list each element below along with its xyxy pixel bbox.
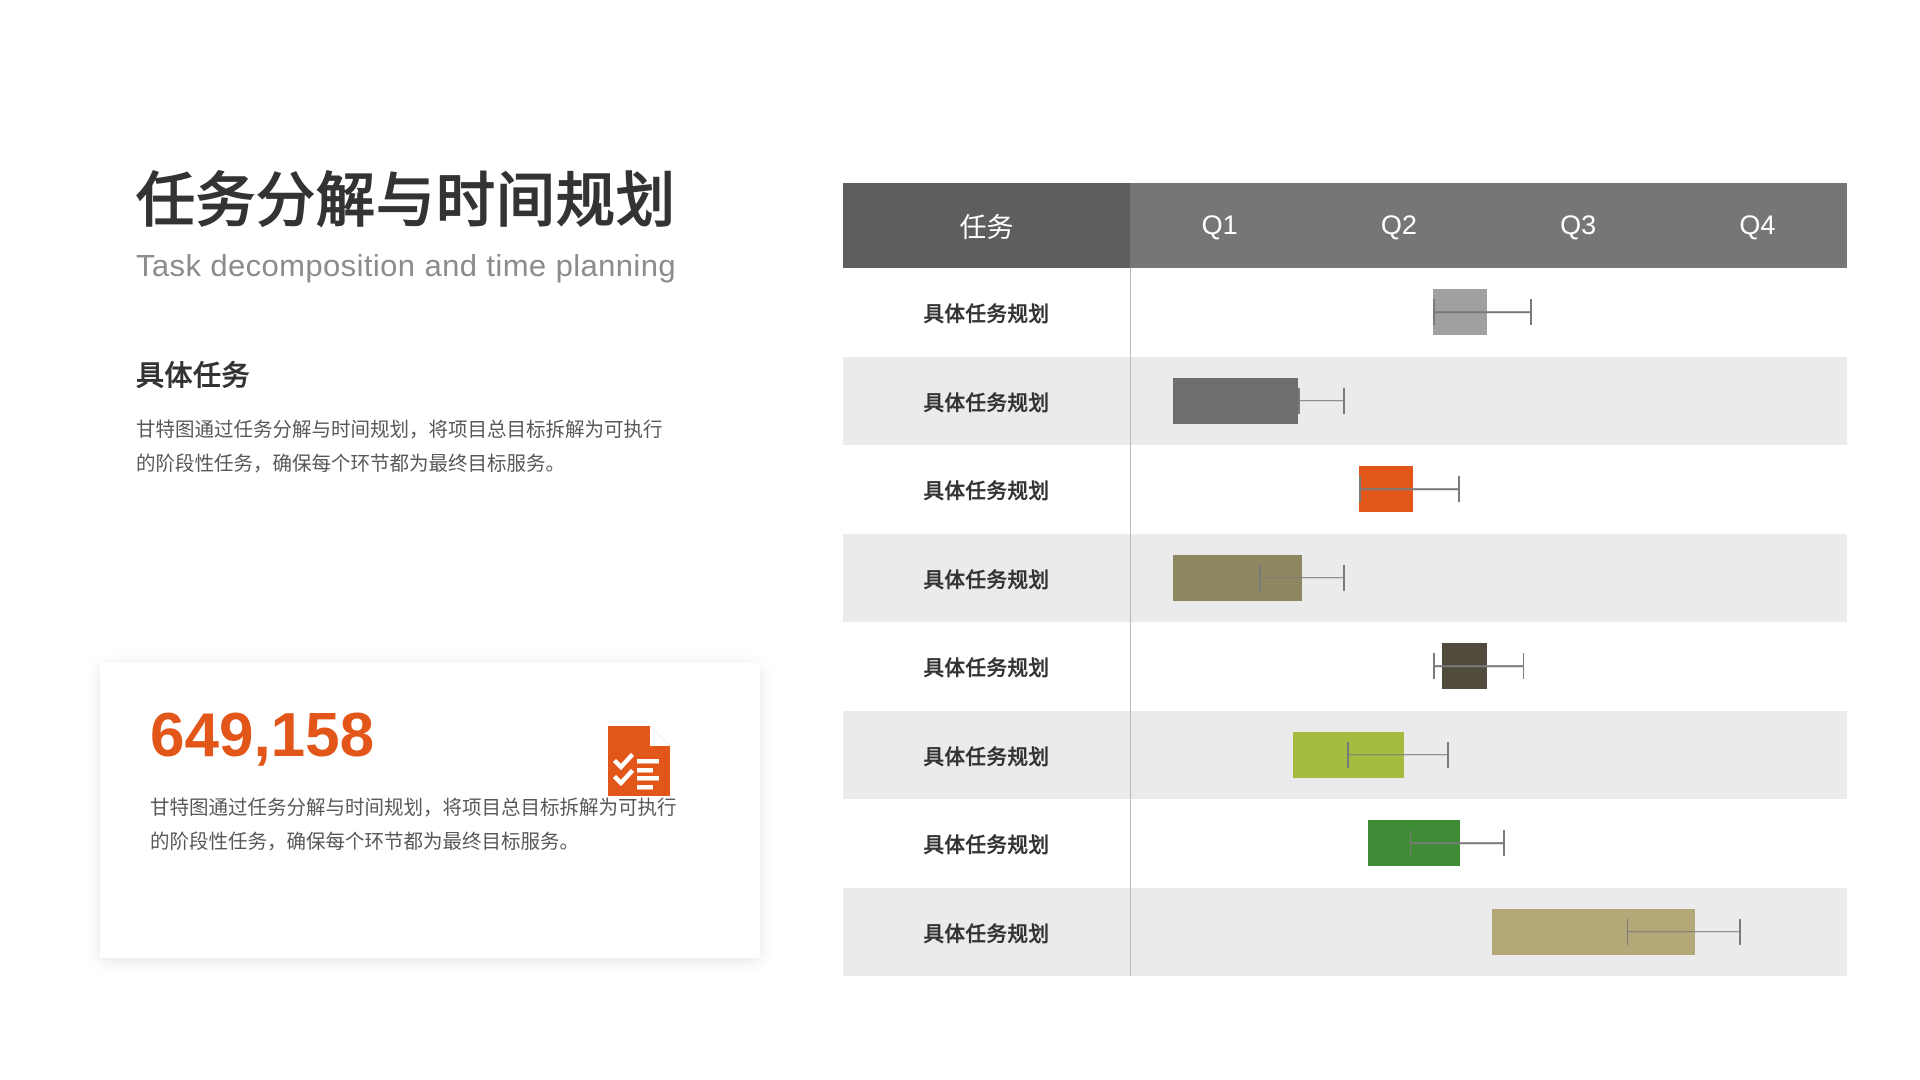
error-bar-cap-low (1359, 476, 1361, 502)
gantt-header-row: 任务 Q1 Q2 Q3 Q4 (843, 183, 1847, 268)
gantt-chart: 任务 Q1 Q2 Q3 Q4 具体任务规划具体任务规划具体任务规划具体任务规划具… (843, 183, 1847, 976)
stat-card-body-text: 甘特图通过任务分解与时间规划，将项目总目标拆解为可执行的阶段性任务，确保每个环节… (150, 792, 695, 859)
table-row[interactable]: 具体任务规划 (843, 445, 1847, 534)
error-bar-line (1433, 665, 1523, 667)
error-bar-line (1627, 931, 1740, 933)
bar-plot-cell (1130, 268, 1847, 357)
column-header-task: 任务 (843, 183, 1130, 268)
table-row[interactable]: 具体任务规划 (843, 534, 1847, 623)
table-row[interactable]: 具体任务规划 (843, 888, 1847, 977)
task-name-cell: 具体任务规划 (843, 799, 1130, 888)
error-bar-cap-low (1259, 565, 1261, 591)
error-bar-line (1433, 311, 1530, 313)
error-bar-line (1410, 842, 1503, 844)
slide-canvas: 任务分解与时间规划 Task decomposition and time pl… (0, 0, 1920, 1080)
error-bar-cap-high (1739, 919, 1741, 945)
error-bar-cap-low (1298, 388, 1300, 414)
task-name-cell: 具体任务规划 (843, 622, 1130, 711)
error-bar-cap-high (1530, 299, 1532, 325)
error-bar-line (1259, 577, 1343, 579)
error-bar-cap-high (1458, 476, 1460, 502)
stat-card: 649,158 甘特图通过任务分解与时间规划，将项目总目标拆解为可执行的阶段性任… (100, 663, 760, 958)
task-name-cell: 具体任务规划 (843, 534, 1130, 623)
page-title: 任务分解与时间规划 (136, 168, 756, 234)
error-bar-cap-low (1433, 299, 1435, 325)
column-header-q4: Q4 (1668, 183, 1847, 268)
bar-plot-cell (1130, 888, 1847, 977)
bar-plot-cell (1130, 799, 1847, 888)
error-bar-cap-high (1343, 388, 1345, 414)
section-body-text: 甘特图通过任务分解与时间规划，将项目总目标拆解为可执行的阶段性任务，确保每个环节… (136, 414, 666, 481)
error-bar-line (1298, 400, 1343, 402)
quarter-header-group: Q1 Q2 Q3 Q4 (1130, 183, 1847, 268)
error-bar-line (1347, 754, 1447, 756)
error-bar-cap-low (1433, 653, 1435, 679)
error-bar-cap-low (1627, 919, 1629, 945)
table-row[interactable]: 具体任务规划 (843, 622, 1847, 711)
left-content-column: 任务分解与时间规划 Task decomposition and time pl… (136, 168, 756, 481)
table-row[interactable]: 具体任务规划 (843, 711, 1847, 800)
error-bar-cap-high (1523, 653, 1525, 679)
bar-plot-cell (1130, 711, 1847, 800)
task-name-cell: 具体任务规划 (843, 268, 1130, 357)
bar-plot-cell (1130, 445, 1847, 534)
page-subtitle: Task decomposition and time planning (136, 248, 756, 284)
plot-axis-divider (1130, 268, 1131, 976)
error-bar-line (1359, 488, 1458, 490)
error-bar-cap-low (1347, 742, 1349, 768)
bar-plot-cell (1130, 534, 1847, 623)
table-row[interactable]: 具体任务规划 (843, 357, 1847, 446)
column-header-q1: Q1 (1130, 183, 1309, 268)
checklist-document-icon (608, 726, 670, 796)
task-name-cell: 具体任务规划 (843, 711, 1130, 800)
error-bar-cap-high (1447, 742, 1449, 768)
task-name-cell: 具体任务规划 (843, 888, 1130, 977)
task-name-cell: 具体任务规划 (843, 445, 1130, 534)
table-row[interactable]: 具体任务规划 (843, 799, 1847, 888)
task-name-cell: 具体任务规划 (843, 357, 1130, 446)
table-row[interactable]: 具体任务规划 (843, 268, 1847, 357)
gantt-bar[interactable] (1173, 378, 1298, 424)
column-header-q2: Q2 (1309, 183, 1488, 268)
error-bar-cap-high (1343, 565, 1345, 591)
section-heading: 具体任务 (136, 354, 756, 394)
error-bar-cap-low (1410, 830, 1412, 856)
bar-plot-cell (1130, 357, 1847, 446)
bar-plot-cell (1130, 622, 1847, 711)
error-bar-cap-high (1503, 830, 1505, 856)
column-header-q3: Q3 (1489, 183, 1668, 268)
gantt-rows: 具体任务规划具体任务规划具体任务规划具体任务规划具体任务规划具体任务规划具体任务… (843, 268, 1847, 976)
